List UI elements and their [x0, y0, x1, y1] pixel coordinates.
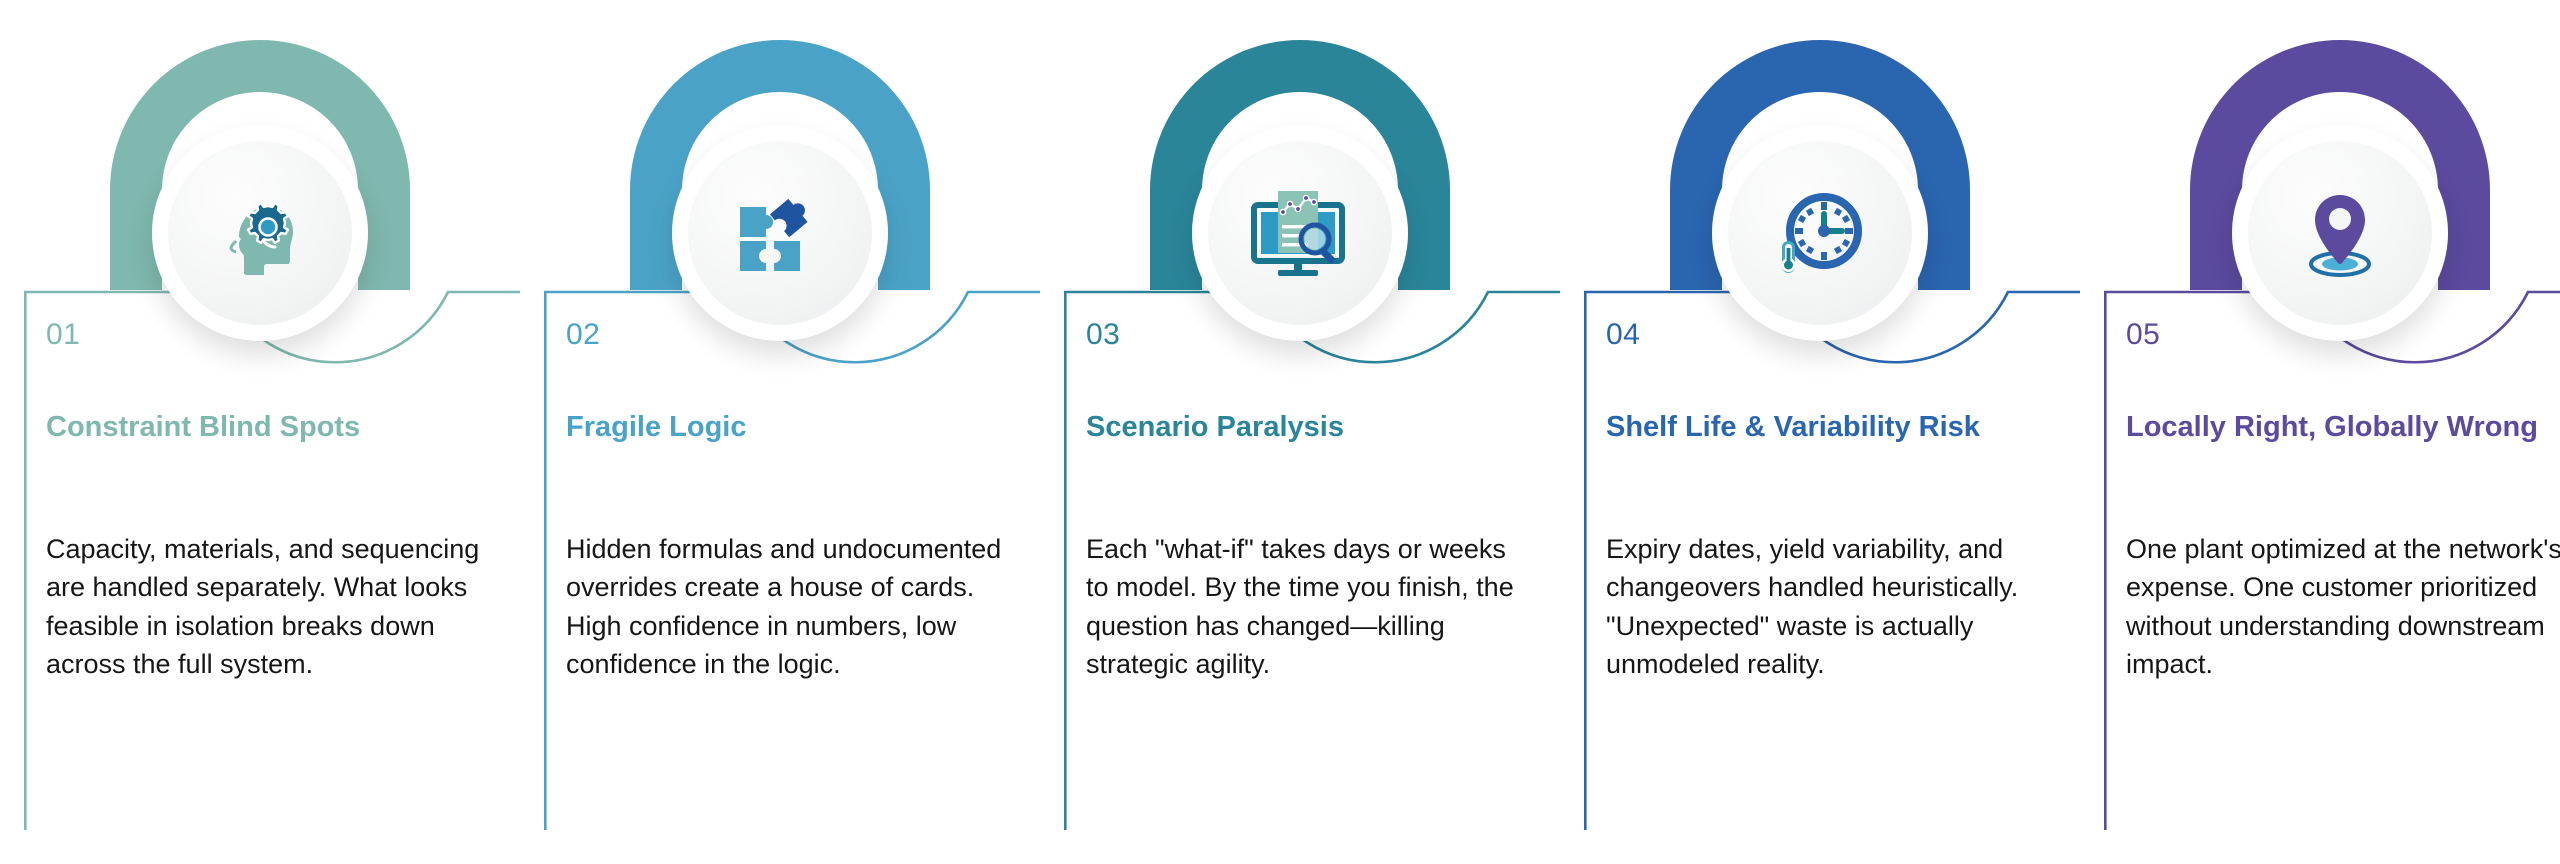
step-card-05[interactable]: 05 Locally Right, Globally Wrong One pla… — [2080, 0, 2560, 864]
step-number-05: 05 — [2126, 318, 2160, 352]
step-card-02[interactable]: 02 Fragile Logic Hidden formulas and und… — [520, 0, 1040, 864]
step-body-01: Capacity, materials, and sequencing are … — [46, 530, 490, 683]
step-title-01: Constraint Blind Spots — [46, 408, 476, 446]
step-card-03[interactable]: 03 Scenario Paralysis Each "what-if" tak… — [1040, 0, 1560, 864]
step-title-05: Locally Right, Globally Wrong — [2126, 408, 2556, 446]
step-title-03: Scenario Paralysis — [1086, 408, 1516, 446]
step-medallion-04 — [1712, 125, 1928, 341]
step-title-04: Shelf Life & Variability Risk — [1606, 408, 2036, 446]
step-number-02: 02 — [566, 318, 600, 352]
step-medallion-05 — [2232, 125, 2448, 341]
step-card-04[interactable]: 04 Shelf Life & Variability Risk Expiry … — [1560, 0, 2080, 864]
step-number-03: 03 — [1086, 318, 1120, 352]
step-medallion-01 — [152, 125, 368, 341]
clock-thermometer-icon — [1728, 141, 1912, 325]
infographic-board: 01 Constraint Blind Spots Capacity, mate… — [0, 0, 2560, 864]
step-title-02: Fragile Logic — [566, 408, 996, 446]
puzzle-pieces-icon — [688, 141, 872, 325]
map-pin-ripple-icon — [2248, 141, 2432, 325]
head-gear-icon — [168, 141, 352, 325]
step-medallion-02 — [672, 125, 888, 341]
step-number-04: 04 — [1606, 318, 1640, 352]
step-card-01[interactable]: 01 Constraint Blind Spots Capacity, mate… — [0, 0, 520, 864]
step-body-03: Each "what-if" takes days or weeks to mo… — [1086, 530, 1530, 683]
step-body-02: Hidden formulas and undocumented overrid… — [566, 530, 1010, 683]
step-number-01: 01 — [46, 318, 80, 352]
step-body-04: Expiry dates, yield variability, and cha… — [1606, 530, 2050, 683]
monitor-analytics-magnifier-icon — [1208, 141, 1392, 325]
step-medallion-03 — [1192, 125, 1408, 341]
step-body-05: One plant optimized at the network's exp… — [2126, 530, 2560, 683]
